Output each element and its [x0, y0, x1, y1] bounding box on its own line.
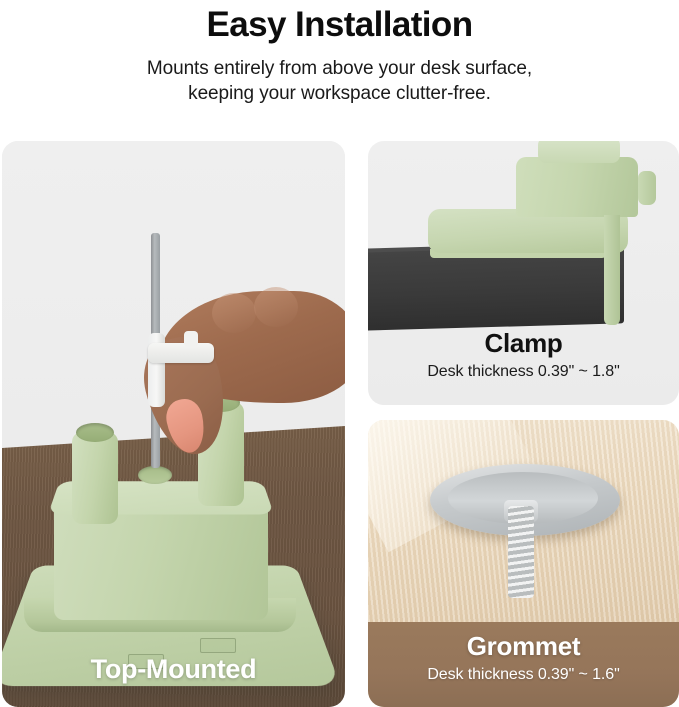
clamp-jaw [604, 215, 620, 325]
desk-edge-icon [368, 245, 624, 330]
panel-top-mounted[interactable]: Top-Mounted [2, 141, 345, 707]
header: Easy Installation Mounts entirely from a… [0, 0, 679, 106]
mount-tube-left-icon [72, 432, 118, 524]
hand-knuckle [212, 293, 256, 333]
clamp-scene [368, 141, 679, 331]
page-subtitle: Mounts entirely from above your desk sur… [70, 56, 610, 106]
grommet-label: Grommet [368, 630, 679, 662]
top-mounted-label: Top-Mounted [2, 653, 345, 685]
clamp-knob-icon [638, 171, 656, 205]
panel-clamp[interactable]: Clamp Desk thickness 0.39" ~ 1.8" [368, 141, 679, 405]
clamp-riser [516, 157, 638, 217]
page-subtitle-line-1: Mounts entirely from above your desk sur… [70, 56, 610, 81]
clamp-spec: Desk thickness 0.39" ~ 1.8" [368, 363, 679, 381]
panel-grid: Top-Mounted Clamp Desk thickness 0.39" ~… [0, 141, 679, 707]
mount-vent-slot [200, 638, 236, 653]
clamp-cap [538, 141, 620, 163]
allen-key-handle-icon [148, 343, 214, 363]
threaded-bolt-icon [508, 506, 534, 598]
clamp-label: Clamp [368, 327, 679, 359]
grommet-label-band: Grommet Desk thickness 0.39" ~ 1.6" [368, 622, 679, 707]
hand-knuckle [254, 287, 298, 327]
top-mounted-label-band: Top-Mounted [2, 653, 345, 707]
panel-grommet[interactable]: Grommet Desk thickness 0.39" ~ 1.6" [368, 420, 679, 707]
page-title: Easy Installation [0, 4, 679, 46]
grommet-spec: Desk thickness 0.39" ~ 1.6" [368, 666, 679, 684]
allen-key-handle-nub [184, 331, 198, 347]
screw-well-icon [138, 466, 172, 484]
page-subtitle-line-2: keeping your workspace clutter-free. [70, 81, 610, 106]
clamp-caption: Clamp Desk thickness 0.39" ~ 1.8" [368, 327, 679, 381]
